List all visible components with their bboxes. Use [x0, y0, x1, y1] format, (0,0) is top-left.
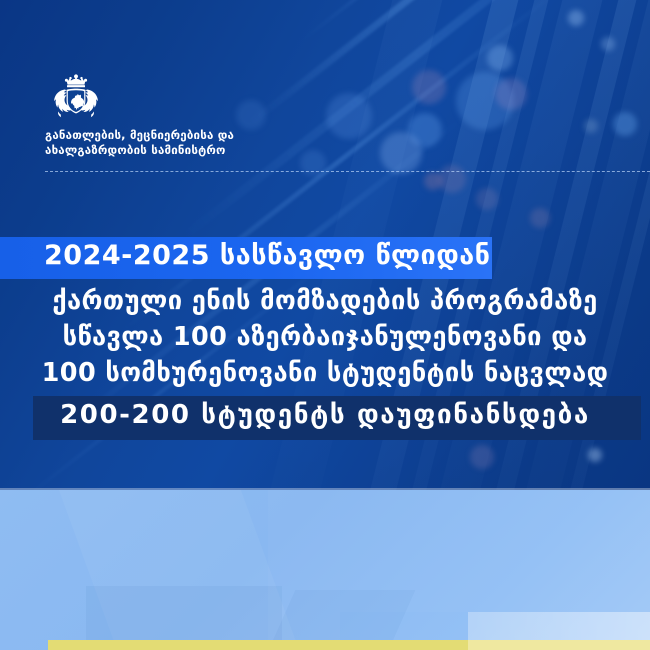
- body-line-2: სწავლა 100 აზერბაიჯანულენოვანი და: [0, 319, 650, 355]
- bottom-light-band: [468, 612, 650, 640]
- ministry-name-line2: ახალგაზრდობის სამინისტრო: [45, 143, 365, 158]
- accent-yellow-band-right: [468, 640, 650, 650]
- body-line-3: 100 სომხურენოვანი სტუდენტის ნაცვლად: [0, 355, 650, 391]
- georgian-coat-of-arms-icon: [44, 72, 108, 134]
- poster-root: განათლების, მეცნიერებისა და ახალგაზრდობი…: [0, 0, 650, 650]
- emphasis-line: 200-200 სტუდენტს დაუფინანსდება: [0, 400, 650, 430]
- year-label: 2024-2025 სასწავლო წლიდან: [44, 240, 491, 271]
- ministry-name-line1: განათლების, მეცნიერებისა და: [45, 128, 234, 142]
- body-text-block: ქართული ენის მომზადების პროგრამაზე სწავლ…: [0, 283, 650, 391]
- panel-seam: [0, 488, 650, 490]
- header-divider: [45, 171, 650, 172]
- body-line-1: ქართული ენის მომზადების პროგრამაზე: [0, 283, 650, 319]
- ministry-name: განათლების, მეცნიერებისა და ახალგაზრდობი…: [45, 128, 365, 158]
